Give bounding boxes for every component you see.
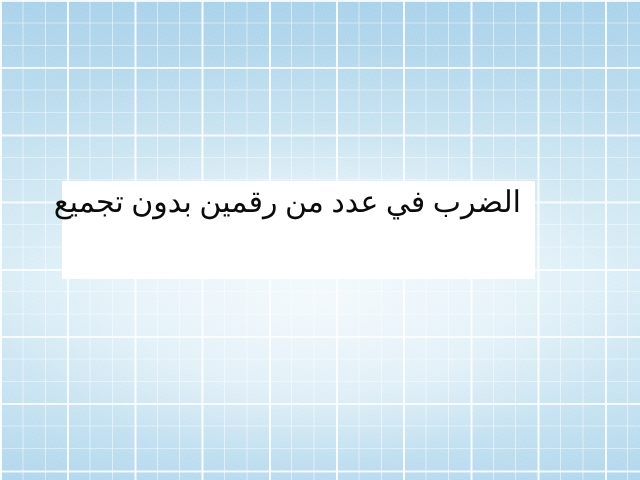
title-card: الضرب في عدد من رقمين بدون تجميع xyxy=(62,181,535,279)
slide-canvas: الضرب في عدد من رقمين بدون تجميع xyxy=(0,0,640,480)
slide-title: الضرب في عدد من رقمين بدون تجميع xyxy=(76,183,521,224)
